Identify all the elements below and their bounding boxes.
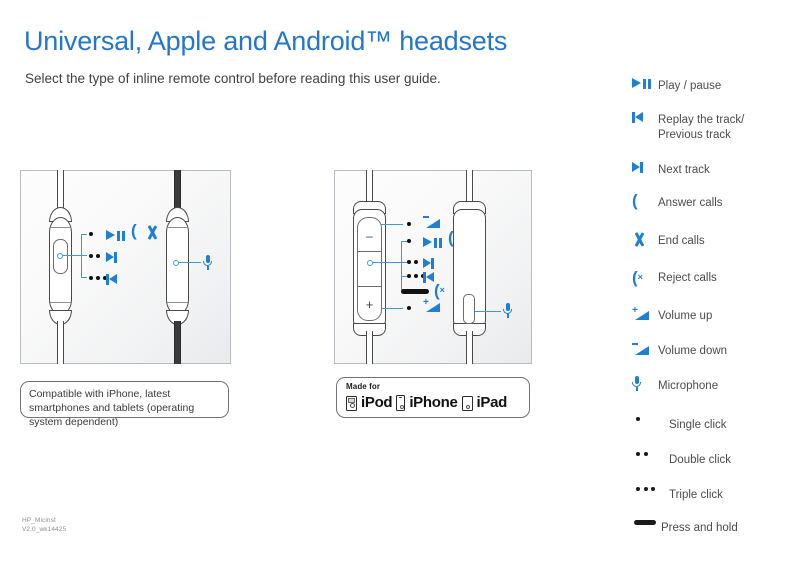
footer-line-1: HP_Micinst xyxy=(22,516,66,525)
volume-up-icon: + xyxy=(423,299,440,317)
answer-call-icon: ( xyxy=(632,195,658,206)
press-hold-icon xyxy=(632,520,660,525)
ipad-label: iPad xyxy=(477,393,507,413)
legend-item-replay-track: Replay the track/ Previous track xyxy=(632,112,744,143)
apple-headset-panel: – + ( xyxy=(334,170,532,364)
play-pause-icon xyxy=(632,78,658,89)
legend-item-press-and-hold: Press and hold xyxy=(632,520,738,536)
play-pause-icon xyxy=(106,228,126,246)
leader-line xyxy=(381,308,403,309)
microphone-icon xyxy=(203,255,213,275)
legend-label: Next track xyxy=(658,162,710,178)
legend-label: End calls xyxy=(658,233,705,249)
reject-call-icon: (× xyxy=(632,270,658,283)
footer-line-2: V2.0_wk14425 xyxy=(22,525,66,534)
volume-down-icon xyxy=(423,215,440,233)
made-for-label: Made for xyxy=(346,382,520,393)
legend-label: Play / pause xyxy=(658,78,721,94)
double-click-icon xyxy=(407,260,418,264)
legend-item-answer-calls: ( Answer calls xyxy=(632,195,723,211)
volume-down-icon xyxy=(632,343,658,355)
volume-up-button-label[interactable]: + xyxy=(358,298,381,311)
volume-up-icon: + xyxy=(632,308,658,320)
leader-line xyxy=(475,311,501,312)
leader-line xyxy=(373,262,401,263)
triple-click-icon xyxy=(89,276,107,280)
legend-item-single-click: Single click xyxy=(632,417,727,433)
replay-track-icon xyxy=(632,112,658,123)
document-footer: HP_Micinst V2.0_wk14425 xyxy=(22,516,66,535)
legend-label: Microphone xyxy=(658,376,718,394)
single-click-icon xyxy=(89,232,93,236)
page-title: Universal, Apple and Android™ headsets xyxy=(24,26,507,57)
center-button-anchor-dot[interactable] xyxy=(367,260,373,266)
double-click-icon xyxy=(89,254,100,258)
headset-guide-page: Universal, Apple and Android™ headsets S… xyxy=(0,0,802,566)
microphone-anchor-dot xyxy=(173,260,179,266)
next-track-icon xyxy=(106,250,117,268)
single-click-icon xyxy=(407,306,411,310)
universal-headset-panel: ( xyxy=(20,170,231,364)
legend-item-play-pause: Play / pause xyxy=(632,78,721,94)
answer-call-icon: ( xyxy=(131,223,137,241)
microphone-icon xyxy=(503,303,513,323)
ipod-label: iPod xyxy=(361,393,392,413)
next-track-icon xyxy=(632,162,658,173)
legend-label: Reject calls xyxy=(658,270,717,286)
single-click-icon xyxy=(407,239,411,243)
cable-lower-mic xyxy=(174,321,181,364)
leader-line xyxy=(179,262,201,263)
press-hold-icon xyxy=(401,289,429,294)
button-anchor-dot xyxy=(57,253,63,259)
double-click-icon xyxy=(632,452,662,456)
leader-line xyxy=(401,241,402,289)
single-click-icon xyxy=(407,222,411,226)
replay-track-icon xyxy=(423,270,434,288)
legend-item-volume-down: Volume down xyxy=(632,343,727,359)
triple-click-icon xyxy=(632,487,662,491)
legend-item-end-calls: End calls xyxy=(632,233,705,249)
end-call-icon xyxy=(632,233,658,246)
legend-item-next-track: Next track xyxy=(632,162,710,178)
cable-lower-right xyxy=(366,331,373,364)
ipod-device-icon xyxy=(346,396,357,411)
legend-label: Triple click xyxy=(662,487,723,503)
page-subtitle: Select the type of inline remote control… xyxy=(25,71,441,86)
leader-line xyxy=(81,255,87,256)
cable-lower-left xyxy=(57,321,64,364)
cable-upper-left xyxy=(57,170,64,210)
legend-item-volume-up: + Volume up xyxy=(632,308,712,324)
microphone-grille xyxy=(463,294,475,324)
legend-item-microphone: Microphone xyxy=(632,376,718,394)
play-pause-icon xyxy=(423,235,443,253)
universal-panel-caption: Compatible with iPhone, latest smartphon… xyxy=(20,381,229,418)
replay-track-icon xyxy=(106,272,117,290)
legend-item-reject-calls: (× Reject calls xyxy=(632,270,717,286)
microphone-icon xyxy=(632,376,658,391)
leader-line xyxy=(63,255,81,256)
ipad-device-icon xyxy=(462,396,473,411)
legend-label: Press and hold xyxy=(660,520,738,536)
legend-label: Volume up xyxy=(658,308,712,324)
universal-microphone-module xyxy=(166,217,189,315)
legend-label: Single click xyxy=(662,417,727,433)
legend-item-triple-click: Triple click xyxy=(632,487,723,503)
legend-label: Answer calls xyxy=(658,195,723,211)
cable-upper-mic xyxy=(174,170,181,210)
cable-lower-mic-right xyxy=(466,331,473,364)
leader-line xyxy=(381,224,403,225)
legend-label: Volume down xyxy=(658,343,727,359)
leader-line xyxy=(81,234,87,235)
end-call-icon xyxy=(145,226,158,244)
made-for-apple-badge: Made for iPod iPhone iPad xyxy=(336,377,530,418)
legend-label: Replay the track/ Previous track xyxy=(658,112,744,143)
single-click-icon xyxy=(632,417,662,421)
legend-label: Double click xyxy=(662,452,731,468)
legend-item-double-click: Double click xyxy=(632,452,731,468)
leader-line xyxy=(81,277,87,278)
iphone-device-icon xyxy=(396,395,405,411)
iphone-label: iPhone xyxy=(409,393,457,413)
